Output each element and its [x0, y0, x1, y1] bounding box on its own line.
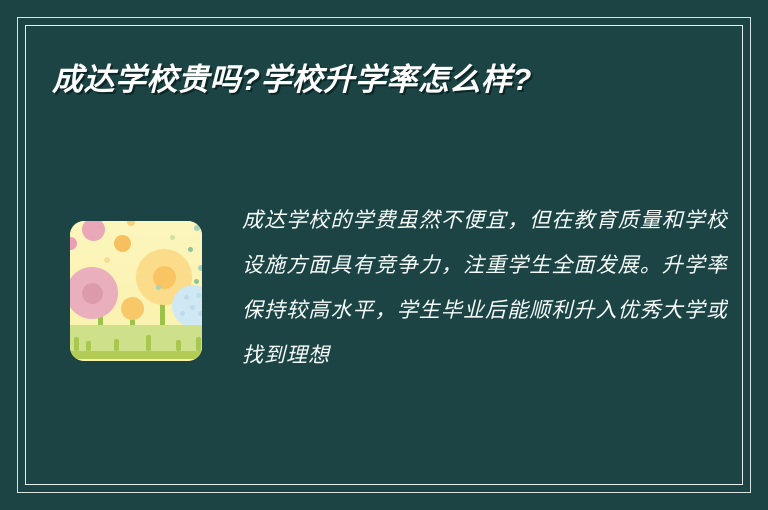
page-title: 成达学校贵吗?学校升学率怎么样? — [52, 58, 652, 102]
grass-blade-6 — [196, 337, 201, 351]
flower-blue-speck-4 — [180, 311, 185, 316]
speck-green-2 — [188, 247, 193, 252]
body-text-container: 成达学校的学费虽然不便宜，但在教育质量和学校设施方面具有竞争力，注重学生全面发展… — [242, 196, 728, 472]
speck-green-4 — [194, 279, 199, 284]
speck-yellow-2 — [104, 257, 110, 263]
flower-orange-bud — [114, 235, 131, 252]
speck-green-6 — [156, 285, 161, 290]
body-paragraph: 成达学校的学费虽然不便宜，但在教育质量和学校设施方面具有竞争力，注重学生全面发展… — [242, 198, 728, 378]
grass-blade-2 — [86, 341, 91, 351]
flower-blue-speck-5 — [198, 311, 202, 316]
flower-pink-large-core — [82, 283, 103, 304]
flower-field-illustration — [62, 213, 220, 378]
flower-yellow-small — [121, 297, 144, 320]
speck-green-3 — [198, 265, 202, 271]
flower-blue-speck-2 — [196, 293, 201, 298]
content-area: 成达学校的学费虽然不便宜，但在教育质量和学校设施方面具有竞争力，注重学生全面发展… — [52, 196, 728, 470]
grass-blade-5 — [176, 340, 181, 351]
grass-blade-1 — [74, 337, 79, 351]
title-block: 成达学校贵吗?学校升学率怎么样? — [52, 58, 652, 102]
illustration-card — [70, 221, 202, 361]
flower-blue-speck-1 — [184, 295, 189, 300]
poster-canvas: 成达学校贵吗?学校升学率怎么样? — [0, 0, 768, 510]
speck-green-5 — [170, 235, 175, 240]
flower-blue-speck-3 — [190, 305, 195, 310]
grass-blade-3 — [114, 339, 119, 351]
grass-ground-line — [70, 351, 202, 359]
grass-blade-4 — [146, 335, 151, 351]
speck-green-1 — [194, 225, 200, 231]
